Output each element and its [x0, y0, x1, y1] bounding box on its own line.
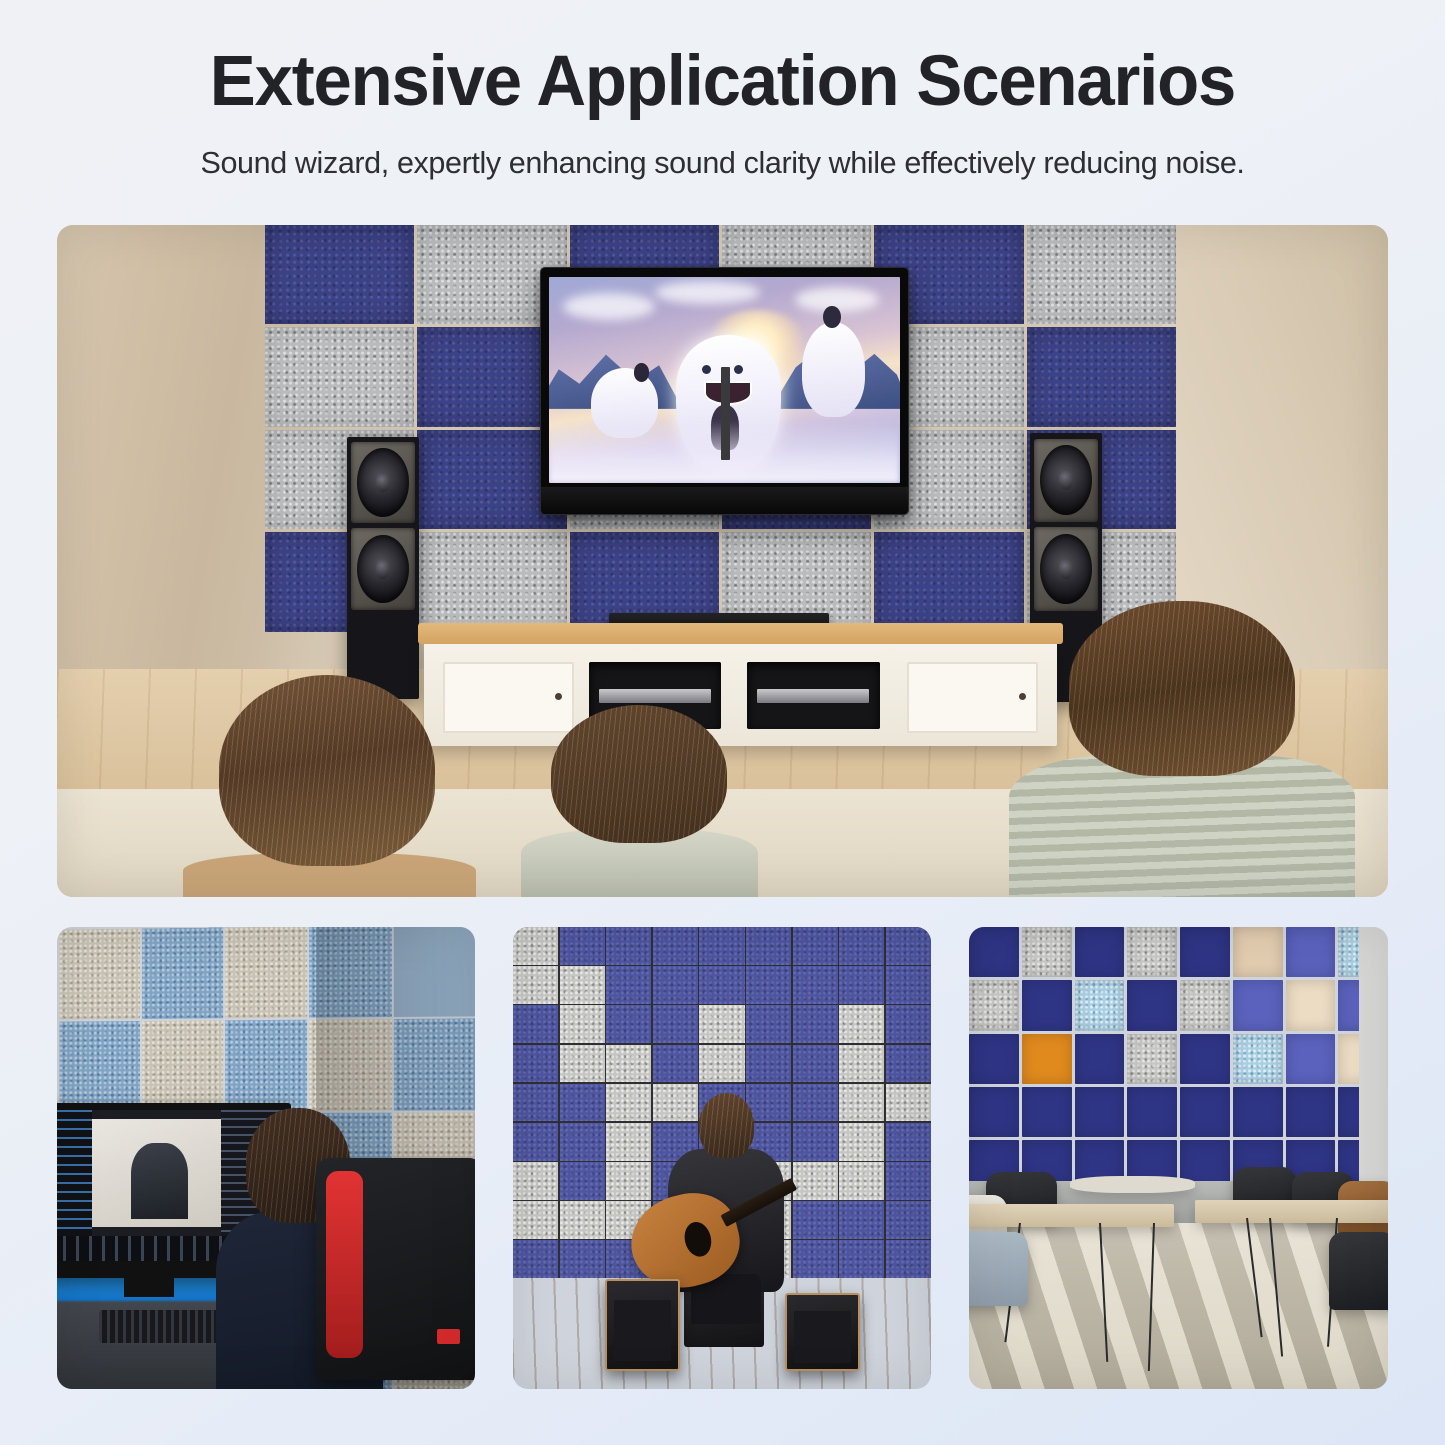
tower-speaker-left: [347, 437, 419, 699]
guitar-sound-hole: [681, 1219, 715, 1259]
boy-character: [634, 363, 650, 382]
wall-edge: [1359, 927, 1388, 1204]
monitor-stand: [124, 1269, 174, 1297]
viewer-adult-right: [1015, 595, 1348, 897]
amplifier-right: [785, 1293, 860, 1371]
chair: [1329, 1232, 1388, 1311]
television: [540, 267, 909, 515]
dining-table-left: [969, 1204, 1174, 1227]
viewer-child-center: [530, 689, 750, 897]
acoustic-panel-wall: [969, 927, 1388, 1190]
scene-office-cafeteria: [969, 927, 1388, 1389]
dining-table-right: [1195, 1200, 1388, 1223]
page-subtitle: Sound wizard, expertly enhancing sound c…: [11, 119, 1434, 181]
gaming-chair: [316, 1158, 475, 1380]
scene-music-practice-room: [513, 927, 931, 1389]
yeti-eye: [734, 365, 743, 375]
header: Extensive Application Scenarios Sound wi…: [0, 0, 1445, 181]
scene-home-theater: [57, 225, 1388, 897]
amplifier-left: [605, 1279, 680, 1371]
yeti-eye: [702, 365, 711, 375]
tv-brand-logo: [721, 367, 730, 460]
console-oak-top: [418, 623, 1063, 643]
cloud: [563, 293, 654, 320]
chair: [969, 1232, 1028, 1306]
marketing-page: Extensive Application Scenarios Sound wi…: [0, 0, 1445, 1445]
console-media-shelf: [747, 662, 880, 729]
scene-video-editing-studio: [57, 927, 475, 1389]
chair-logo: [437, 1329, 460, 1345]
yeti-companion-right: [802, 322, 865, 417]
viewer-adult-left: [183, 675, 476, 897]
rider-character: [823, 306, 841, 329]
cloud: [655, 281, 760, 304]
page-title: Extensive Application Scenarios: [22, 0, 1424, 119]
video-preview: [92, 1119, 221, 1228]
guitarist: [663, 1093, 788, 1324]
tv-bezel-bottom: [541, 487, 908, 514]
round-table: [1070, 1176, 1196, 1192]
chair-red-accent: [326, 1171, 363, 1357]
